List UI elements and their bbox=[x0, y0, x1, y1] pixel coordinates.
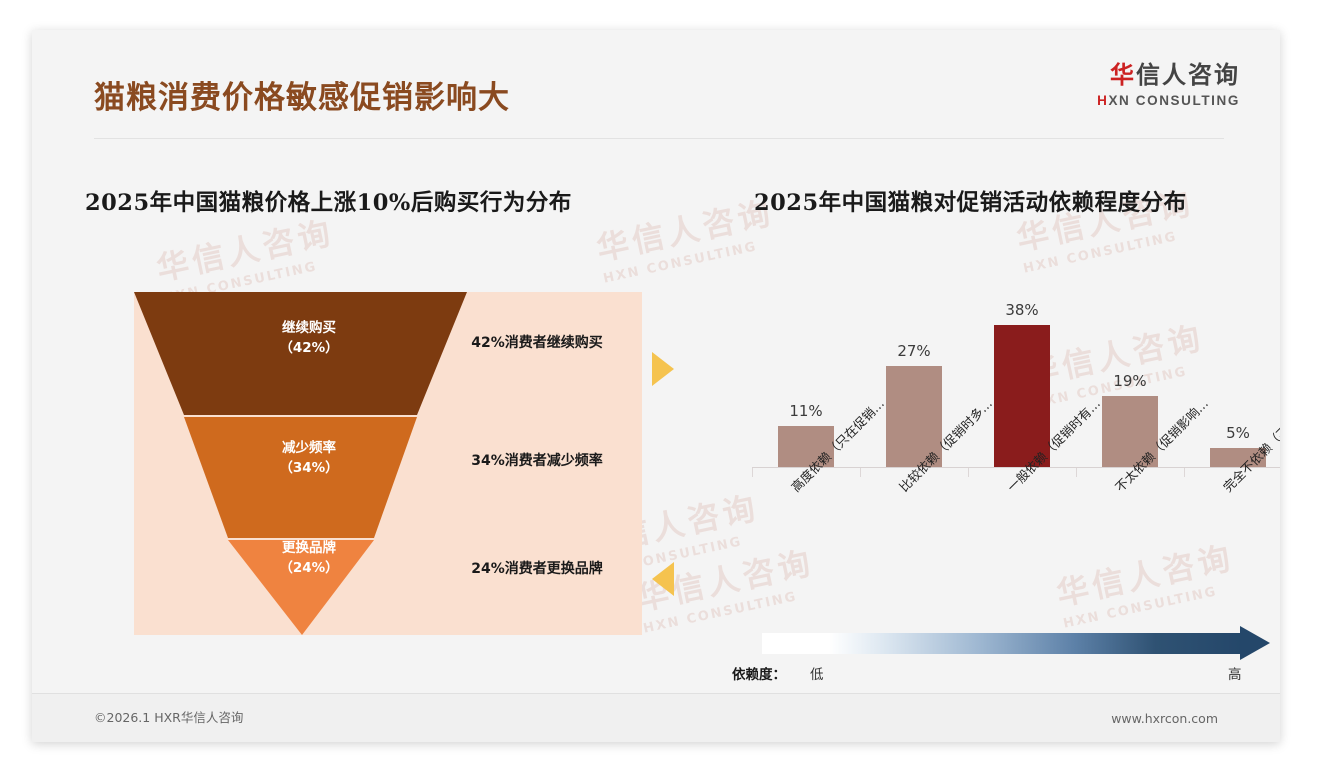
dependency-legend: 依赖度： 低 高 bbox=[732, 625, 1280, 685]
funnel-label-3-line1: 更换品牌 bbox=[282, 540, 336, 556]
funnel-label-1: 继续购买 （42%） bbox=[244, 318, 374, 359]
funnel-chart: 继续购买 （42%） 减少频率 （34%） 更换品牌 （24%） 42%消费者继… bbox=[102, 260, 642, 635]
arrow-right-icon bbox=[652, 352, 674, 386]
bar-value-label-3: 19% bbox=[1090, 372, 1170, 390]
logo-rest-cn: 信人咨询 bbox=[1136, 61, 1240, 89]
bar-value-label-1: 27% bbox=[874, 342, 954, 360]
logo-accent-letter: H bbox=[1097, 93, 1108, 108]
funnel-note-1: 42%消费者继续购买 bbox=[432, 332, 642, 352]
bar-value-label-2: 38% bbox=[982, 301, 1062, 319]
legend-low-label: 低 bbox=[810, 663, 824, 683]
funnel-label-2-line1: 减少频率 bbox=[282, 440, 336, 456]
watermark-cn: 华信人咨询 bbox=[1052, 533, 1238, 615]
legend-arrow-icon bbox=[1240, 626, 1270, 660]
header-divider bbox=[94, 138, 1224, 139]
arrow-left-icon bbox=[652, 562, 674, 596]
axis-tick-2 bbox=[968, 468, 969, 477]
left-chart-title: 2025年中国猫粮价格上涨10%后购买行为分布 bbox=[85, 185, 572, 217]
funnel-label-2-line2: （34%） bbox=[279, 460, 338, 476]
copyright-text: ©2026.1 HXR华信人咨询 bbox=[94, 707, 243, 726]
watermark-cn: 华信人咨询 bbox=[592, 188, 778, 270]
legend-high-label: 高 bbox=[1228, 663, 1242, 683]
logo-accent-char: 华 bbox=[1110, 61, 1136, 89]
website-url: www.hxrcon.com bbox=[1111, 711, 1218, 726]
funnel-label-1-line1: 继续购买 bbox=[282, 320, 336, 336]
slide-header: 猫粮消费价格敏感促销影响大 华信人咨询 HXN CONSULTING bbox=[32, 30, 1280, 122]
axis-tick-4 bbox=[1184, 468, 1185, 477]
right-chart-title: 2025年中国猫粮对促销活动依赖程度分布 bbox=[754, 185, 1187, 217]
watermark-en: HXN CONSULTING bbox=[1022, 225, 1201, 277]
logo-text-cn: 华信人咨询 bbox=[1097, 62, 1240, 88]
funnel-note-2: 34%消费者减少频率 bbox=[432, 450, 642, 470]
funnel-label-3: 更换品牌 （24%） bbox=[244, 538, 374, 579]
bar-chart: 11%27%38%19%5% bbox=[732, 280, 1280, 480]
logo-rest-en: XN CONSULTING bbox=[1108, 93, 1240, 108]
funnel-label-1-line2: （42%） bbox=[279, 340, 338, 356]
legend-title: 依赖度： bbox=[732, 663, 786, 683]
axis-tick-3 bbox=[1076, 468, 1077, 477]
axis-tick-0 bbox=[752, 468, 753, 477]
funnel-label-2: 减少频率 （34%） bbox=[244, 438, 374, 479]
logo-text-en: HXN CONSULTING bbox=[1097, 93, 1240, 108]
bar-value-label-0: 11% bbox=[766, 402, 846, 420]
page-title: 猫粮消费价格敏感促销影响大 bbox=[94, 72, 510, 117]
funnel-label-3-line2: （24%） bbox=[279, 560, 338, 576]
legend-gradient-bar bbox=[762, 633, 1242, 654]
watermark-en: HXN CONSULTING bbox=[1062, 580, 1241, 632]
slide-canvas: 华信人咨询HXN CONSULTING 华信人咨询HXN CONSULTING … bbox=[32, 30, 1280, 742]
funnel-note-3: 24%消费者更换品牌 bbox=[432, 558, 642, 578]
brand-logo: 华信人咨询 HXN CONSULTING bbox=[1097, 62, 1240, 108]
axis-tick-1 bbox=[860, 468, 861, 477]
